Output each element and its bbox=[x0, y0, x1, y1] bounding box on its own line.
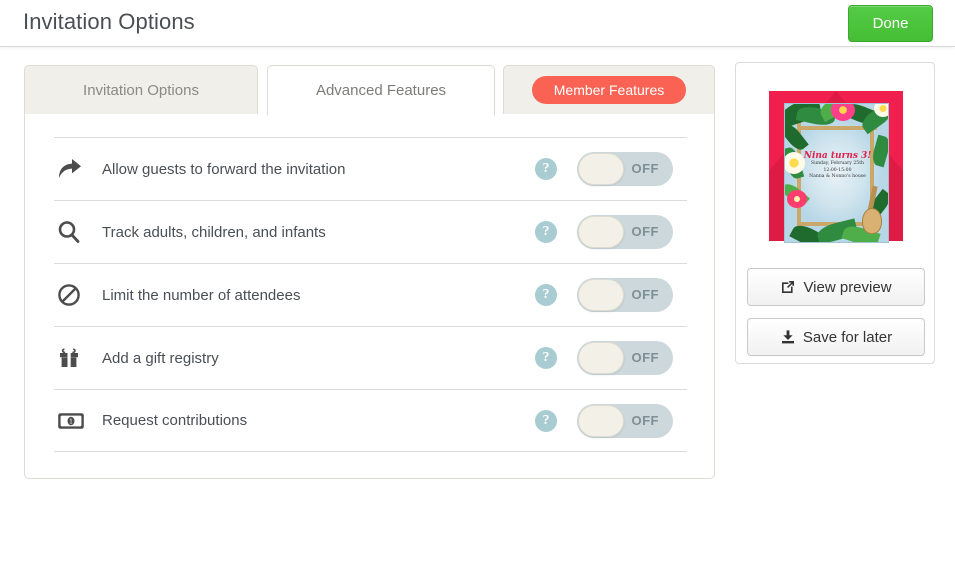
toggle-state-label: OFF bbox=[632, 152, 660, 186]
tab-strip: Invitation Options Advanced Features Mem… bbox=[24, 65, 715, 115]
tab-advanced-features[interactable]: Advanced Features bbox=[267, 65, 495, 116]
help-icon[interactable]: ? bbox=[535, 221, 557, 243]
save-for-later-button[interactable]: Save for later bbox=[747, 318, 925, 356]
hibiscus-flower-icon bbox=[787, 190, 807, 208]
invitation-thumbnail[interactable]: Nina turns 3! Sunday, February 25th 12:0… bbox=[749, 77, 923, 255]
view-preview-button[interactable]: View preview bbox=[747, 268, 925, 306]
svg-text:1: 1 bbox=[69, 418, 73, 425]
invitation-venue: Nanna & Nonno's house bbox=[795, 174, 880, 181]
toggle-knob[interactable] bbox=[578, 405, 624, 437]
download-icon bbox=[780, 329, 796, 345]
feature-row-request-contributions: 1 Request contributions ? OFF bbox=[54, 389, 687, 452]
toggle-limit-attendees[interactable]: OFF bbox=[577, 278, 673, 312]
feature-label: Track adults, children, and infants bbox=[98, 224, 535, 241]
member-features-pill[interactable]: Member Features bbox=[532, 76, 686, 104]
feature-label: Request contributions bbox=[98, 412, 535, 429]
view-preview-label: View preview bbox=[803, 279, 891, 296]
top-bar: Invitation Options Done bbox=[0, 0, 955, 47]
toggle-state-label: OFF bbox=[632, 215, 660, 249]
no-entry-icon bbox=[54, 283, 98, 307]
feature-label: Add a gift registry bbox=[98, 350, 535, 367]
invitation-title: Nina turns 3! bbox=[795, 151, 880, 161]
invitation-card-face: Nina turns 3! Sunday, February 25th 12:0… bbox=[784, 103, 889, 243]
toggle-allow-forward[interactable]: OFF bbox=[577, 152, 673, 186]
help-icon[interactable]: ? bbox=[535, 347, 557, 369]
feature-row-track-guests: Track adults, children, and infants ? OF… bbox=[54, 200, 687, 263]
forward-arrow-icon bbox=[54, 158, 98, 180]
feature-label: Limit the number of attendees bbox=[98, 287, 535, 304]
tab-label: Advanced Features bbox=[316, 82, 446, 99]
advanced-features-panel: Allow guests to forward the invitation ?… bbox=[24, 114, 715, 479]
help-icon[interactable]: ? bbox=[535, 158, 557, 180]
invitation-date: Sunday, February 25th bbox=[795, 161, 880, 168]
done-button[interactable]: Done bbox=[848, 5, 933, 42]
toggle-knob[interactable] bbox=[578, 342, 624, 374]
search-icon bbox=[54, 220, 98, 244]
ukulele-body bbox=[862, 208, 882, 234]
page-title: Invitation Options bbox=[23, 9, 195, 35]
toggle-state-label: OFF bbox=[632, 404, 660, 438]
toggle-knob[interactable] bbox=[578, 153, 624, 185]
toggle-knob[interactable] bbox=[578, 279, 624, 311]
toggle-request-contributions[interactable]: OFF bbox=[577, 404, 673, 438]
external-link-icon bbox=[780, 279, 796, 295]
toggle-track-guests[interactable]: OFF bbox=[577, 215, 673, 249]
tab-member-features[interactable]: Member Features bbox=[503, 65, 715, 115]
gift-icon bbox=[54, 346, 98, 370]
toggle-state-label: OFF bbox=[632, 278, 660, 312]
banknote-icon: 1 bbox=[54, 411, 98, 431]
feature-row-limit-attendees: Limit the number of attendees ? OFF bbox=[54, 263, 687, 326]
save-for-later-label: Save for later bbox=[803, 329, 892, 346]
invitation-text-block: Nina turns 3! Sunday, February 25th 12:0… bbox=[795, 151, 880, 181]
feature-label: Allow guests to forward the invitation bbox=[98, 161, 535, 178]
toggle-gift-registry[interactable]: OFF bbox=[577, 341, 673, 375]
plumeria-flower-icon bbox=[874, 103, 889, 117]
preview-card: Nina turns 3! Sunday, February 25th 12:0… bbox=[735, 62, 935, 364]
feature-row-forward: Allow guests to forward the invitation ?… bbox=[54, 137, 687, 200]
toggle-state-label: OFF bbox=[632, 341, 660, 375]
feature-list: Allow guests to forward the invitation ?… bbox=[54, 137, 687, 452]
help-icon[interactable]: ? bbox=[535, 410, 557, 432]
toggle-knob[interactable] bbox=[578, 216, 624, 248]
tab-invitation-options[interactable]: Invitation Options bbox=[24, 65, 258, 115]
tab-label: Invitation Options bbox=[83, 82, 199, 99]
feature-row-gift-registry: Add a gift registry ? OFF bbox=[54, 326, 687, 389]
help-icon[interactable]: ? bbox=[535, 284, 557, 306]
